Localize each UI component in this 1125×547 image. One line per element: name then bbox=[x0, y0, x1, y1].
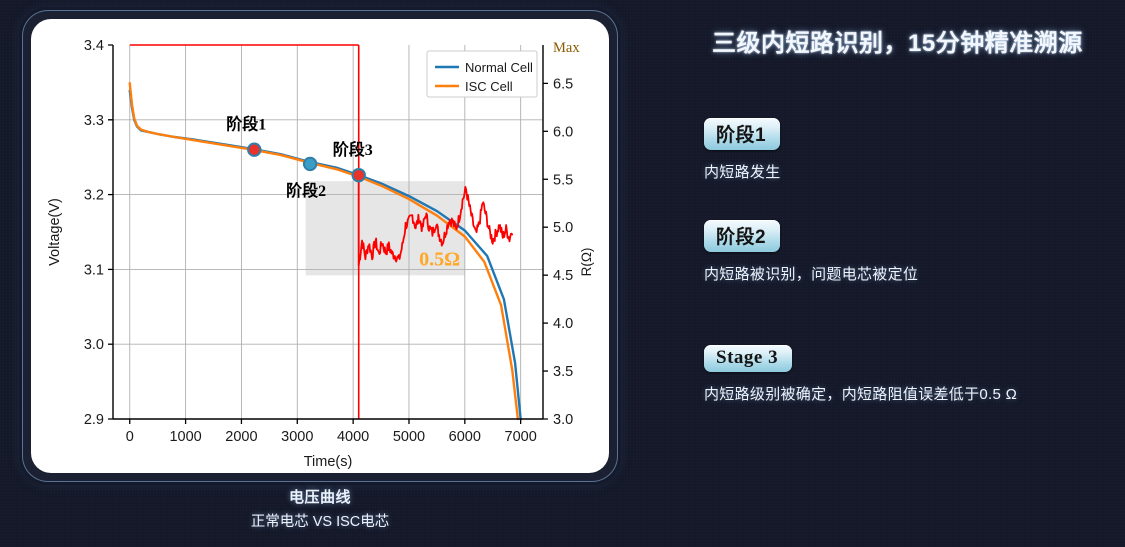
svg-text:3.5: 3.5 bbox=[553, 364, 573, 380]
svg-text:3.3: 3.3 bbox=[84, 113, 104, 129]
svg-text:6000: 6000 bbox=[449, 429, 481, 445]
svg-text:2.9: 2.9 bbox=[84, 412, 104, 428]
caption-title: 电压曲线 bbox=[22, 486, 618, 507]
svg-text:2000: 2000 bbox=[225, 429, 257, 445]
svg-text:0: 0 bbox=[126, 429, 134, 445]
svg-text:4.0: 4.0 bbox=[553, 316, 573, 332]
svg-text:R(Ω): R(Ω) bbox=[579, 248, 594, 277]
svg-text:Voltage(V): Voltage(V) bbox=[47, 198, 63, 266]
svg-text:阶段2: 阶段2 bbox=[286, 181, 326, 200]
svg-text:Max: Max bbox=[553, 40, 580, 56]
stage-badge-2: 阶段2 bbox=[704, 220, 780, 252]
svg-text:0.5Ω: 0.5Ω bbox=[419, 249, 460, 271]
caption-subtitle: 正常电芯 VS ISC电芯 bbox=[22, 510, 618, 531]
chart-caption: 电压曲线 正常电芯 VS ISC电芯 bbox=[22, 486, 618, 531]
svg-text:ISC Cell: ISC Cell bbox=[465, 79, 513, 94]
info-panel: 三级内短路识别，15分钟精准溯源 阶段1 内短路发生 阶段2 内短路被识别，问题… bbox=[660, 0, 1125, 547]
svg-text:4000: 4000 bbox=[337, 429, 369, 445]
stage-item-1: 阶段1 内短路发生 bbox=[704, 118, 1104, 182]
svg-text:3.4: 3.4 bbox=[84, 38, 104, 54]
svg-text:阶段3: 阶段3 bbox=[333, 140, 373, 159]
svg-text:3.1: 3.1 bbox=[84, 262, 104, 278]
stage-item-2: 阶段2 内短路被识别，问题电芯被定位 bbox=[704, 220, 1104, 284]
svg-text:5.5: 5.5 bbox=[553, 172, 573, 188]
svg-text:3.0: 3.0 bbox=[553, 412, 573, 428]
svg-text:Normal Cell: Normal Cell bbox=[465, 60, 533, 75]
svg-text:5.0: 5.0 bbox=[553, 220, 573, 236]
svg-text:4.5: 4.5 bbox=[553, 268, 573, 284]
svg-text:7000: 7000 bbox=[505, 429, 537, 445]
svg-text:6.5: 6.5 bbox=[553, 76, 573, 92]
chart-card: 2.93.03.13.23.33.43.03.54.04.55.05.56.06… bbox=[22, 10, 618, 482]
svg-text:阶段1: 阶段1 bbox=[226, 115, 266, 134]
svg-text:3.2: 3.2 bbox=[84, 188, 104, 204]
stage-desc-1: 内短路发生 bbox=[704, 161, 1104, 182]
svg-text:6.0: 6.0 bbox=[553, 124, 573, 140]
svg-text:1000: 1000 bbox=[169, 429, 201, 445]
stage-badge-1: 阶段1 bbox=[704, 118, 780, 150]
svg-text:3000: 3000 bbox=[281, 429, 313, 445]
svg-text:Time(s): Time(s) bbox=[304, 454, 353, 470]
page-title: 三级内短路识别，15分钟精准溯源 bbox=[712, 23, 1112, 58]
stage-desc-3: 内短路级别被确定，内短路阻值误差低于0.5 Ω bbox=[704, 383, 1104, 404]
stage-item-3: Stage 3 内短路级别被确定，内短路阻值误差低于0.5 Ω bbox=[704, 345, 1104, 404]
chart-canvas-area: 2.93.03.13.23.33.43.03.54.04.55.05.56.06… bbox=[31, 19, 609, 473]
svg-text:3.0: 3.0 bbox=[84, 337, 104, 353]
svg-text:5000: 5000 bbox=[393, 429, 425, 445]
stage-badge-3: Stage 3 bbox=[704, 345, 792, 372]
stage-desc-2: 内短路被识别，问题电芯被定位 bbox=[704, 263, 1104, 284]
voltage-resistance-chart: 2.93.03.13.23.33.43.03.54.04.55.05.56.06… bbox=[31, 19, 609, 473]
